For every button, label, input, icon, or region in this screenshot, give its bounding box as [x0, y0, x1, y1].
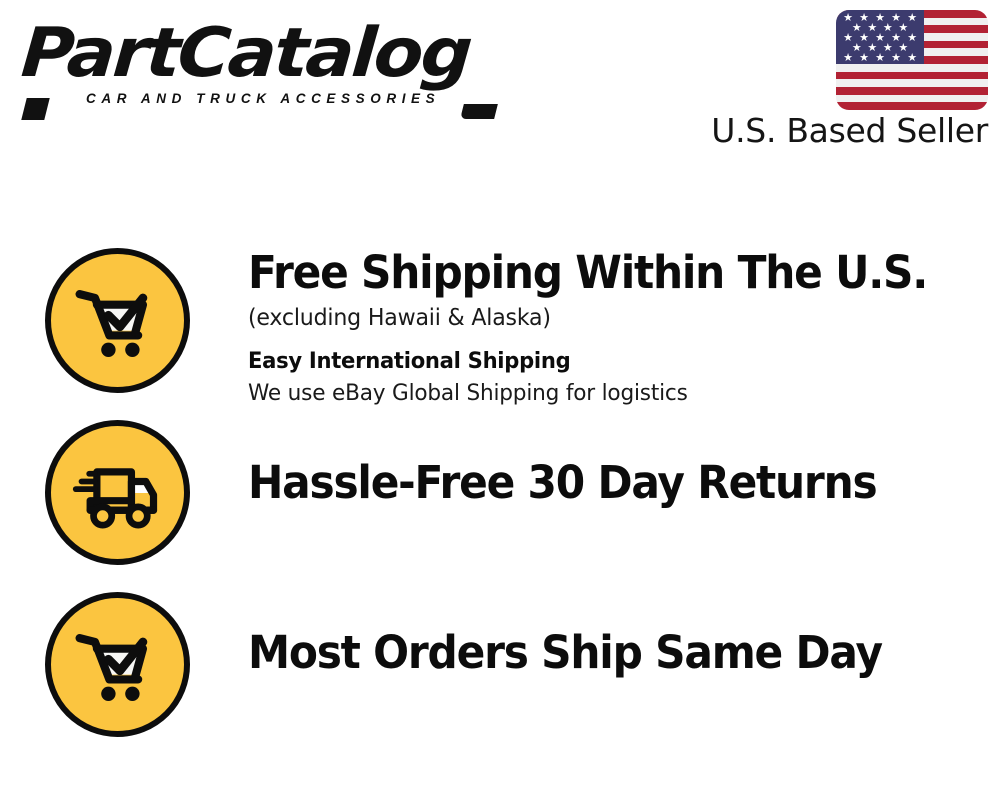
- feature-headline: Most Orders Ship Same Day: [248, 630, 955, 677]
- flag-star-icon: ★: [891, 53, 901, 63]
- feature-text-block: Free Shipping Within The U.S. (excluding…: [190, 248, 1000, 407]
- flag-star-icon: ★: [907, 13, 917, 23]
- flag-star-icon: ★: [907, 33, 917, 43]
- flag-star-icon: ★: [859, 53, 869, 63]
- feature-row-free-shipping: Free Shipping Within The U.S. (excluding…: [0, 248, 1000, 407]
- feature-description: We use eBay Global Shipping for logistic…: [248, 379, 970, 407]
- flag-stripe: [836, 95, 988, 103]
- feature-text-block: Most Orders Ship Same Day: [190, 592, 1000, 677]
- brand-wordmark: PartCatalog: [19, 22, 522, 87]
- feature-headline: Hassle-Free 30 Day Returns: [248, 460, 955, 507]
- logo-accent-left-icon: [21, 98, 49, 120]
- shopping-cart-check-icon: [70, 273, 166, 369]
- feature-badge: [45, 248, 190, 393]
- shopping-cart-check-icon: [70, 617, 166, 713]
- flag-canton: ★ ★ ★ ★ ★ ★ ★ ★ ★ ★ ★ ★ ★ ★: [836, 10, 924, 64]
- flag-stripe: [836, 79, 988, 87]
- flag-stripe: [836, 72, 988, 80]
- promo-banner: PartCatalog CAR AND TRUCK ACCESSORIES ★ …: [0, 0, 1000, 800]
- flag-star-icon: ★: [907, 53, 917, 63]
- feature-text-block: Hassle-Free 30 Day Returns: [190, 420, 1000, 507]
- flag-stripe: [836, 64, 988, 72]
- feature-row-same-day-ship: Most Orders Ship Same Day: [0, 592, 1000, 737]
- brand-logo: PartCatalog CAR AND TRUCK ACCESSORIES: [24, 22, 494, 106]
- feature-badge: [45, 420, 190, 565]
- us-based-seller-label: U.S. Based Seller: [688, 114, 988, 149]
- delivery-truck-icon: [70, 445, 166, 541]
- flag-star-icon: ★: [875, 53, 885, 63]
- feature-badge: [45, 592, 190, 737]
- us-flag-icon: ★ ★ ★ ★ ★ ★ ★ ★ ★ ★ ★ ★ ★ ★: [836, 10, 988, 110]
- feature-row-returns: Hassle-Free 30 Day Returns: [0, 420, 1000, 565]
- feature-note: (excluding Hawaii & Alaska): [248, 304, 970, 333]
- feature-headline: Free Shipping Within The U.S.: [248, 250, 955, 297]
- flag-stripe: [836, 87, 988, 95]
- us-based-seller-block: ★ ★ ★ ★ ★ ★ ★ ★ ★ ★ ★ ★ ★ ★: [688, 10, 988, 149]
- flag-star-icon: ★: [843, 53, 853, 63]
- logo-accent-right-icon: [460, 104, 498, 119]
- flag-star-row: ★ ★ ★ ★ ★: [840, 53, 920, 63]
- flag-stripe: [836, 102, 988, 110]
- feature-subheading: Easy International Shipping: [248, 349, 970, 375]
